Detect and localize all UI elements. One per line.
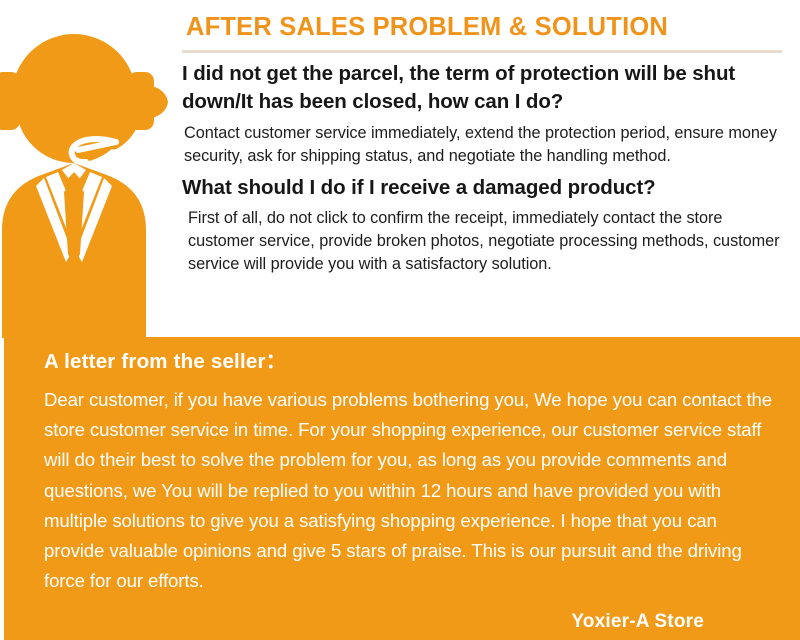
faq-question-1: I did not get the parcel, the term of pr… (182, 60, 790, 115)
customer-service-headset-agent-icon (0, 0, 175, 338)
faq-answer-1: Contact customer service immediately, ex… (184, 122, 790, 168)
store-signature: Yoxier-A Store (26, 611, 704, 633)
faq-question-2: What should I do if I receive a damaged … (182, 174, 790, 202)
after-sales-info-banner: AFTER SALES PROBLEM & SOLUTION I did not… (0, 0, 800, 640)
title-divider (182, 50, 782, 53)
seller-letter-panel: A letter from the seller： Dear customer,… (4, 337, 800, 640)
faq-section: AFTER SALES PROBLEM & SOLUTION I did not… (176, 0, 800, 338)
faq-answer-2: First of all, do not click to confirm th… (188, 207, 790, 276)
page-title: AFTER SALES PROBLEM & SOLUTION (186, 12, 790, 44)
letter-body: Dear customer, if you have various probl… (44, 385, 778, 597)
letter-heading: A letter from the seller： (44, 349, 778, 376)
